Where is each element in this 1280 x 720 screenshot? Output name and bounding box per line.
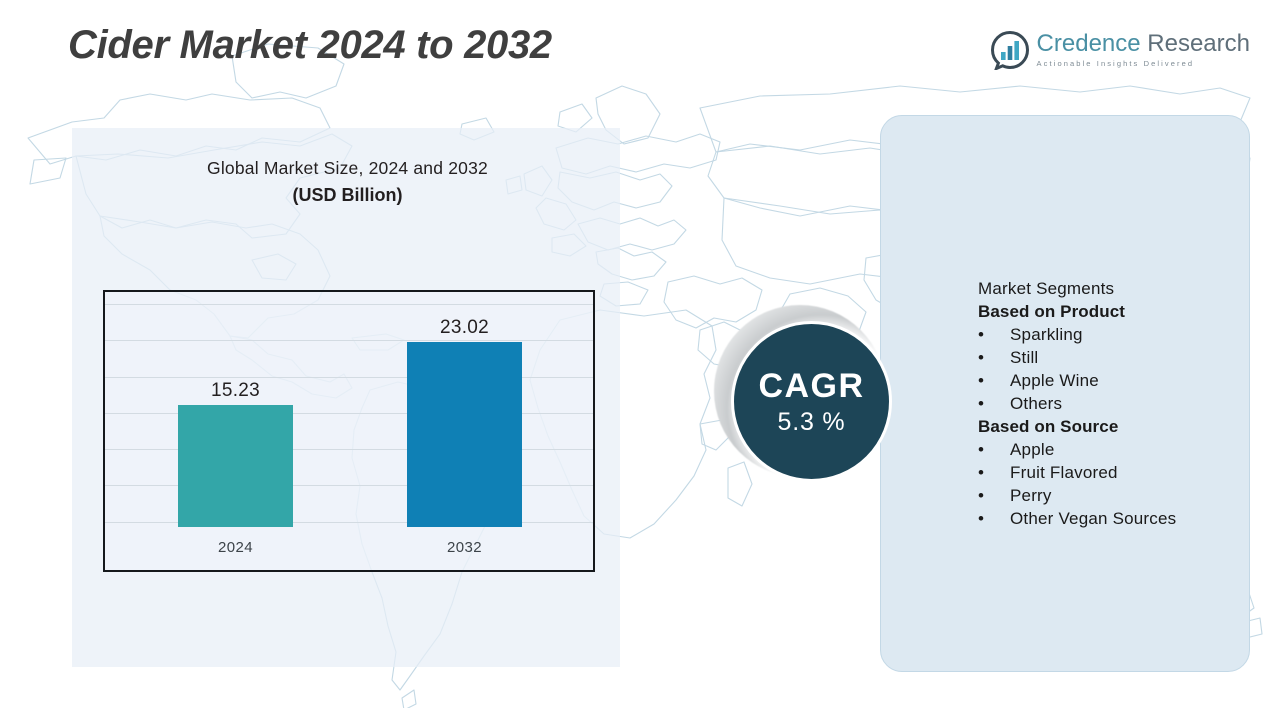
segment-item: •Perry (978, 484, 1258, 507)
bar-2024 (178, 405, 293, 527)
bar-chart: 15.23202423.022032 (103, 290, 595, 572)
cagr-circle: CAGR 5.3 % (731, 321, 892, 482)
segment-item-label: Others (1010, 394, 1062, 413)
segment-groups: Based on Product•Sparkling•Still•Apple W… (978, 300, 1258, 530)
bar-value-2024: 15.23 (176, 380, 296, 402)
logo-text-block: Credence Research Actionable Insights De… (1037, 31, 1250, 69)
page-title: Cider Market 2024 to 2032 (68, 23, 552, 68)
segment-item: •Still (978, 346, 1258, 369)
bar-category-2032: 2032 (405, 539, 525, 556)
logo-tagline: Actionable Insights Delivered (1037, 58, 1250, 69)
cagr-label: CAGR (758, 367, 864, 405)
segment-item: •Others (978, 392, 1258, 415)
bar-category-2024: 2024 (176, 539, 296, 556)
segment-list: •Apple•Fruit Flavored•Perry•Other Vegan … (978, 438, 1258, 530)
segment-group-title: Based on Source (978, 415, 1258, 438)
segment-item-label: Apple (1010, 440, 1054, 459)
chart-plot-area: 15.23202423.022032 (105, 292, 593, 570)
segment-item: •Fruit Flavored (978, 461, 1258, 484)
bar-value-2032: 23.02 (405, 317, 525, 339)
segment-item-label: Still (1010, 348, 1038, 367)
segment-item: •Other Vegan Sources (978, 507, 1258, 530)
segment-item-label: Fruit Flavored (1010, 463, 1118, 482)
segment-group-title: Based on Product (978, 300, 1258, 323)
cagr-value: 5.3 % (778, 407, 846, 437)
bullet-icon: • (978, 461, 984, 484)
bullet-icon: • (978, 346, 984, 369)
segment-item: •Sparkling (978, 323, 1258, 346)
cagr-badge: CAGR 5.3 % (714, 305, 904, 495)
infographic-canvas: Cider Market 2024 to 2032 Credence Resea… (0, 0, 1280, 720)
chart-heading-line1: Global Market Size, 2024 and 2032 (120, 157, 575, 180)
logo-name: Credence Research (1037, 31, 1250, 57)
segment-item-label: Perry (1010, 486, 1052, 505)
segment-item: •Apple (978, 438, 1258, 461)
chart-heading-line2: (USD Billion) (120, 183, 575, 207)
market-segments: Market Segments Based on Product•Sparkli… (978, 278, 1258, 530)
bullet-icon: • (978, 438, 984, 461)
segment-list: •Sparkling•Still•Apple Wine•Others (978, 323, 1258, 415)
logo-name-credence: Credence (1037, 30, 1141, 57)
brand-logo: Credence Research Actionable Insights De… (990, 28, 1250, 72)
bullet-icon: • (978, 369, 984, 392)
bar-chart-speech-bubble-icon (990, 30, 1030, 70)
bullet-icon: • (978, 392, 984, 415)
logo-name-research: Research (1141, 30, 1250, 57)
chart-heading: Global Market Size, 2024 and 2032 (USD B… (120, 157, 575, 207)
segments-title: Market Segments (978, 278, 1258, 300)
bar-2032 (407, 342, 522, 527)
segment-item-label: Apple Wine (1010, 371, 1099, 390)
bullet-icon: • (978, 507, 984, 530)
segment-item-label: Sparkling (1010, 325, 1083, 344)
bullet-icon: • (978, 484, 984, 507)
segment-item-label: Other Vegan Sources (1010, 509, 1176, 528)
segment-item: •Apple Wine (978, 369, 1258, 392)
bullet-icon: • (978, 323, 984, 346)
